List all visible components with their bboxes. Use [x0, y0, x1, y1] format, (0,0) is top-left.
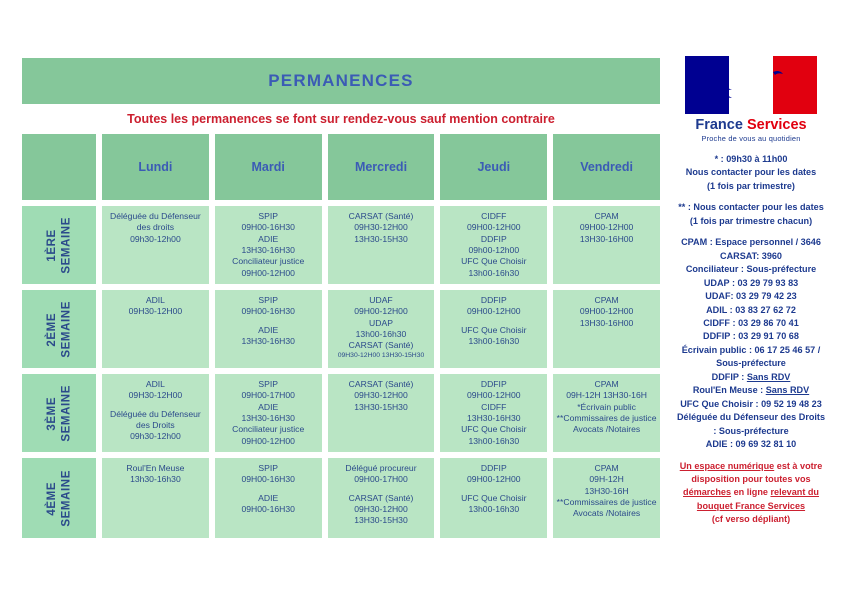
schedule-cell-w1-d3: CARSAT (Santé)09H30-12H0013H30-15H30: [328, 206, 435, 284]
schedule-line: UFC Que Choisir: [442, 256, 545, 267]
schedule-line: Roul'En Meuse: [104, 463, 207, 474]
contact-line: UFC Que Choisir : 09 52 19 48 23: [666, 398, 836, 411]
logo-wordmark: France Services: [673, 117, 829, 133]
schedule-cell-w2-d2: SPIP09H00-16H30ADIE13H30-16H30: [215, 290, 322, 368]
schedule-line: DDFIP: [442, 234, 545, 245]
schedule-line: CIDFF: [442, 211, 545, 222]
schedule-line: CIDFF: [442, 402, 545, 413]
footer-link-bouquet[interactable]: bouquet France Services: [697, 501, 805, 511]
schedule-line: 09H00-12H00: [442, 390, 545, 401]
footer-link-relevant[interactable]: relevant du: [770, 487, 819, 497]
schedule-line: 09H00-12H00: [555, 222, 658, 233]
schedule-line: UFC Que Choisir: [442, 493, 545, 504]
schedule-line: CARSAT (Santé): [330, 493, 433, 504]
schedule-line: 13H30-15H30: [330, 515, 433, 526]
contact-line: : Sous-préfecture: [666, 425, 836, 438]
schedule-line: Conciliateur justice: [217, 256, 320, 267]
schedule-cell-w4-d4: DDFIP09H00-12H00UFC Que Choisir13h00-16h…: [440, 458, 547, 538]
schedule-cell-w2-d3: UDAF09H00-12H00UDAP13h00-16h30CARSAT (Sa…: [328, 290, 435, 368]
schedule-line: DDFIP: [442, 295, 545, 306]
schedule-cell-w1-d1: Déléguée du Défenseurdes droits09h30-12h…: [102, 206, 209, 284]
schedule-line: 09H00-12H00: [442, 306, 545, 317]
contact-line: CIDFF : 03 29 86 70 41: [666, 317, 836, 330]
schedule-line: UFC Que Choisir: [442, 424, 545, 435]
schedule-cell-w1-d4: CIDFF09H00-12H00DDFIP09h00-12h00UFC Que …: [440, 206, 547, 284]
contact-link[interactable]: Sans RDV: [747, 372, 790, 382]
schedule-line: 09H00-12H00: [217, 436, 320, 447]
schedule-line: 09H-12H: [555, 474, 658, 485]
schedule-line: Déléguée du Défenseur: [104, 211, 207, 222]
schedule-line: CARSAT (Santé): [330, 379, 433, 390]
logo-word-france: France: [695, 117, 747, 133]
schedule-line: DDFIP: [442, 379, 545, 390]
note-star-line: * : 09h30 à 11h00: [666, 153, 836, 166]
schedule-line: 13H30-16H30: [217, 413, 320, 424]
schedule-line: Avocats /Notaires: [555, 508, 658, 519]
schedule-line: 09H30-12H00: [330, 504, 433, 515]
page-title-banner: PERMANENCES: [22, 58, 660, 104]
schedule-line: 13h00-16h30: [442, 268, 545, 279]
note-gap: [666, 452, 836, 460]
logo-tagline: Proche de vous au quotidien: [673, 134, 829, 143]
line-spacer: [104, 402, 207, 409]
schedule-line: 13H30-16H00: [555, 318, 658, 329]
contact-line-link: DDFIP : Sans RDV: [666, 371, 836, 384]
line-spacer: [330, 486, 433, 493]
footer-link-espace-numerique[interactable]: Un espace numérique: [680, 461, 775, 471]
schedule-line: ADIE: [217, 325, 320, 336]
week-label-cell-1: 1ÈRE SEMAINE: [22, 206, 96, 284]
week-label-cell-3: 3ÈME SEMAINE: [22, 374, 96, 452]
contact-line: Conciliateur : Sous-préfecture: [666, 263, 836, 276]
schedule-line: ADIE: [217, 493, 320, 504]
note-star-line: (1 fois par trimestre): [666, 180, 836, 193]
schedule-cell-w4-d1: Roul'En Meuse13h30-16h30: [102, 458, 209, 538]
week-label-text: 3ÈME SEMAINE: [45, 385, 74, 442]
schedule-line: **Commissaires de justice: [555, 497, 658, 508]
footer-line-2: disposition pour toutes vos: [666, 473, 836, 486]
france-services-logo: France Services Proche de vous au quotid…: [673, 56, 829, 143]
schedule-line: 09H30-12H00: [330, 390, 433, 401]
line-spacer: [217, 318, 320, 325]
schedule-line: 09H00-12H00: [442, 222, 545, 233]
schedule-cell-w2-d1: ADIL09H30-12H00: [102, 290, 209, 368]
schedule-line: Avocats /Notaires: [555, 424, 658, 435]
schedule-line: DDFIP: [442, 463, 545, 474]
schedule-line: 09H00-12H00: [442, 474, 545, 485]
contact-line: CPAM : Espace personnel / 3646: [666, 236, 836, 249]
schedule-cell-w3-d1: ADIL09H30-12H00Déléguée du Défenseurdes …: [102, 374, 209, 452]
contact-line: DDFIP : 03 29 91 70 68: [666, 330, 836, 343]
note-star-line: Nous contacter pour les dates: [666, 166, 836, 179]
day-header-lundi: Lundi: [102, 134, 209, 200]
schedule-cell-w1-d2: SPIP09H00-16H30ADIE13H30-16H30Conciliate…: [215, 206, 322, 284]
schedule-line: 09H00-16H30: [217, 474, 320, 485]
contact-line: CARSAT: 3960: [666, 250, 836, 263]
week-label-cell-2: 2ÈME SEMAINE: [22, 290, 96, 368]
schedule-line: UDAP: [330, 318, 433, 329]
schedule-line: Déléguée du Défenseur: [104, 409, 207, 420]
schedule-line: des Droits: [104, 420, 207, 431]
schedule-line: 13H30-16H30: [442, 413, 545, 424]
contact-line: Sous-préfecture: [666, 357, 836, 370]
schedule-line: 13h00-16h30: [442, 436, 545, 447]
contact-prefix: DDFIP :: [712, 372, 747, 382]
schedule-line: 09h30-12h00: [104, 234, 207, 245]
contact-prefix: Roul'En Meuse :: [693, 385, 766, 395]
line-spacer: [217, 486, 320, 493]
schedule-cell-w4-d5: CPAM09H-12H13H30-16H**Commissaires de ju…: [553, 458, 660, 538]
subtitle-row: Toutes les permanences se font sur rende…: [22, 104, 660, 134]
footer-text: est à votre: [774, 461, 822, 471]
schedule-cell-w1-d5: CPAM09H00-12H0013H30-16H00: [553, 206, 660, 284]
poster-page: PERMANENCES Toutes les permanences se fo…: [0, 0, 842, 596]
contact-line: ADIE : 09 69 32 81 10: [666, 438, 836, 451]
schedule-cell-w4-d2: SPIP09H00-16H30ADIE09H00-16H30: [215, 458, 322, 538]
schedule-cell-w3-d4: DDFIP09H00-12H00CIDFF13H30-16H30UFC Que …: [440, 374, 547, 452]
schedule-line: 09h00-12h00: [442, 245, 545, 256]
schedule-line: 09H00-12H00: [555, 306, 658, 317]
schedule-line: **Commissaires de justice: [555, 413, 658, 424]
footer-link-demarches[interactable]: démarches: [683, 487, 731, 497]
schedule-line: CARSAT (Santé): [330, 211, 433, 222]
schedule-line: CPAM: [555, 463, 658, 474]
note-doublestar-line: ** : Nous contacter pour les dates: [666, 201, 836, 214]
week-label-text: 2ÈME SEMAINE: [45, 301, 74, 358]
contact-line: ADIL : 03 83 27 62 72: [666, 304, 836, 317]
contact-line: UDAF: 03 29 79 42 23: [666, 290, 836, 303]
contact-line: Écrivain public : 06 17 25 46 57 /: [666, 344, 836, 357]
schedule-cell-w3-d3: CARSAT (Santé)09H30-12H0013H30-15H30: [328, 374, 435, 452]
schedule-cell-w4-d3: Délégué procureur09H00-17H00CARSAT (Sant…: [328, 458, 435, 538]
note-doublestar-line: (1 fois par trimestre chacun): [666, 215, 836, 228]
schedule-line: 09H30-12H00: [104, 390, 207, 401]
note-gap: [666, 228, 836, 236]
day-header-mercredi: Mercredi: [328, 134, 435, 200]
sidebar: France Services Proche de vous au quotid…: [666, 52, 836, 552]
page-title: PERMANENCES: [268, 71, 413, 91]
schedule-block: PERMANENCES Toutes les permanences se fo…: [22, 58, 660, 548]
table-corner-cell: [22, 134, 96, 200]
day-header-mardi: Mardi: [215, 134, 322, 200]
schedule-line: 13h00-16h30: [330, 329, 433, 340]
schedule-line: *Écrivain public: [555, 402, 658, 413]
schedule-line: CPAM: [555, 211, 658, 222]
schedule-line: 13h00-16h30: [442, 336, 545, 347]
schedule-line: UFC Que Choisir: [442, 325, 545, 336]
schedule-line: 13H30-16H: [555, 486, 658, 497]
schedule-cell-w3-d2: SPIP09H00-17H00ADIE13H30-16H30Conciliate…: [215, 374, 322, 452]
schedule-line: 09h30-12h00: [104, 431, 207, 442]
schedule-line: SPIP: [217, 295, 320, 306]
schedule-line: 13h00-16h30: [442, 504, 545, 515]
schedule-cell-w2-d5: CPAM09H00-12H0013H30-16H00: [553, 290, 660, 368]
day-header-vendredi: Vendredi: [553, 134, 660, 200]
schedule-line: SPIP: [217, 211, 320, 222]
schedule-line: 13H30-16H30: [217, 336, 320, 347]
subtitle-text: Toutes les permanences se font sur rende…: [127, 112, 555, 126]
schedule-line: 09H-12H 13H30-16H: [555, 390, 658, 401]
schedule-line: ADIL: [104, 295, 207, 306]
schedule-line: 09H00-16H30: [217, 504, 320, 515]
contact-line-link: Roul'En Meuse : Sans RDV: [666, 384, 836, 397]
schedule-line: 13h30-16h30: [104, 474, 207, 485]
footer-line-5: (cf verso dépliant): [666, 513, 836, 526]
schedule-line: 13H30-15H30: [330, 402, 433, 413]
note-gap: [666, 193, 836, 201]
week-label-text: 1ÈRE SEMAINE: [45, 217, 74, 274]
schedule-line: CPAM: [555, 379, 658, 390]
schedule-line: ADIL: [104, 379, 207, 390]
schedule-line: SPIP: [217, 463, 320, 474]
schedule-line: 09H00-17H00: [330, 474, 433, 485]
footer-line-4: bouquet France Services: [666, 500, 836, 513]
sidebar-notes: * : 09h30 à 11h00Nous contacter pour les…: [666, 153, 836, 527]
contact-link[interactable]: Sans RDV: [766, 385, 809, 395]
schedule-line: 13H30-15H30: [330, 234, 433, 245]
week-label-cell-4: 4ÈME SEMAINE: [22, 458, 96, 538]
schedule-line: 09H00-16H30: [217, 222, 320, 233]
contact-line: Déléguée du Défenseur des Droits: [666, 411, 836, 424]
schedule-line: 09H00-12H00: [330, 306, 433, 317]
schedule-line: CPAM: [555, 295, 658, 306]
schedule-cell-w2-d4: DDFIP09H00-12H00UFC Que Choisir13h00-16h…: [440, 290, 547, 368]
contact-line: UDAP : 03 29 79 93 83: [666, 277, 836, 290]
line-spacer: [442, 318, 545, 325]
marianne-flag-icon: [685, 56, 817, 114]
schedule-line: 09H00-16H30: [217, 306, 320, 317]
footer-line-3: démarches en ligne relevant du: [666, 486, 836, 499]
schedule-line: SPIP: [217, 379, 320, 390]
schedule-line: 13H30-16H00: [555, 234, 658, 245]
schedule-cell-w3-d5: CPAM09H-12H 13H30-16H*Écrivain public**C…: [553, 374, 660, 452]
week-label-text: 4ÈME SEMAINE: [45, 470, 74, 527]
footer-text: en ligne: [731, 487, 770, 497]
schedule-line: 09H30-12H00: [330, 222, 433, 233]
schedule-line: ADIE: [217, 234, 320, 245]
schedule-line-small: 09H30-12H00 13H30-15H30: [330, 352, 433, 361]
day-header-jeudi: Jeudi: [440, 134, 547, 200]
schedule-line: 09H00-12H00: [217, 268, 320, 279]
schedule-line: UDAF: [330, 295, 433, 306]
schedule-line: 09H30-12H00: [104, 306, 207, 317]
line-spacer: [442, 486, 545, 493]
footer-line-1: Un espace numérique est à votre: [666, 460, 836, 473]
schedule-line: Délégué procureur: [330, 463, 433, 474]
schedule-line: des droits: [104, 222, 207, 233]
schedule-line: ADIE: [217, 402, 320, 413]
schedule-line: 09H00-17H00: [217, 390, 320, 401]
permanences-table: LundiMardiMercrediJeudiVendredi1ÈRE SEMA…: [22, 134, 660, 538]
logo-word-services: Services: [747, 117, 807, 133]
schedule-line: CARSAT (Santé): [330, 340, 433, 351]
schedule-line: Conciliateur justice: [217, 424, 320, 435]
schedule-line: 13H30-16H30: [217, 245, 320, 256]
